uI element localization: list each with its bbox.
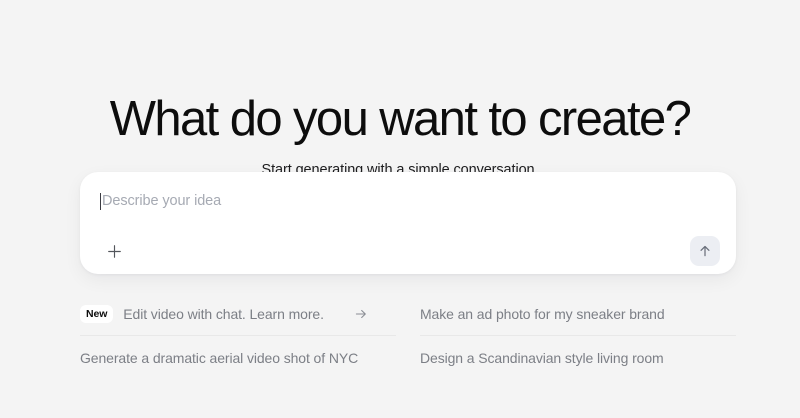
prompt-placeholder: Describe your idea bbox=[102, 191, 221, 211]
suggestion-grid: New Edit video with chat. Learn more. Ma… bbox=[80, 293, 736, 379]
prompt-input-row[interactable]: Describe your idea bbox=[100, 188, 716, 214]
attach-button[interactable] bbox=[101, 238, 127, 264]
arrow-up-icon bbox=[698, 244, 712, 258]
suggestion-item-aerial-video[interactable]: Generate a dramatic aerial video shot of… bbox=[80, 336, 396, 379]
suggestion-item-edit-video[interactable]: New Edit video with chat. Learn more. bbox=[80, 293, 396, 336]
create-prompt-page: What do you want to create? Start genera… bbox=[0, 0, 800, 418]
submit-prompt-button[interactable] bbox=[690, 236, 720, 266]
suggestion-item-ad-photo[interactable]: Make an ad photo for my sneaker brand bbox=[420, 293, 736, 336]
suggestion-label: Generate a dramatic aerial video shot of… bbox=[80, 348, 358, 368]
text-caret bbox=[100, 193, 101, 210]
prompt-composer[interactable]: Describe your idea bbox=[80, 172, 736, 274]
suggestion-item-living-room[interactable]: Design a Scandinavian style living room bbox=[420, 336, 736, 379]
plus-icon bbox=[107, 244, 122, 259]
suggestion-label: Design a Scandinavian style living room bbox=[420, 348, 664, 368]
suggestion-label: Make an ad photo for my sneaker brand bbox=[420, 304, 665, 324]
arrow-right-icon bbox=[354, 307, 392, 321]
suggestion-label: Edit video with chat. Learn more. bbox=[123, 304, 324, 324]
status-badge: New bbox=[80, 305, 113, 323]
page-title: What do you want to create? bbox=[0, 90, 800, 148]
